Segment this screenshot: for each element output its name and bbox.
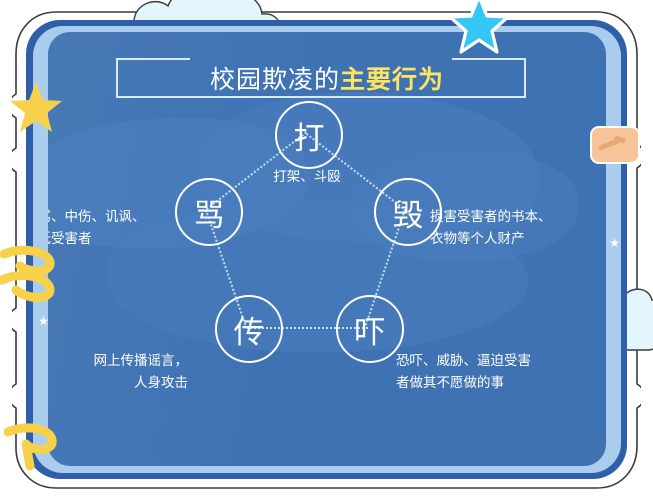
caption-scold: 辱骂、中伤、讥讽、 贬低受害者 bbox=[48, 206, 184, 250]
node-scold[interactable]: 骂 bbox=[175, 178, 243, 246]
node-threaten-label: 吓 bbox=[355, 307, 386, 352]
node-scold-label: 骂 bbox=[194, 190, 225, 235]
title-block: 校园欺凌的主要行为 bbox=[64, 44, 590, 108]
title-prefix: 校园欺凌的 bbox=[210, 65, 340, 94]
caption-destroy: 损害受害者的书本、 衣物等个人财产 bbox=[430, 206, 606, 250]
title-frame-top-right bbox=[452, 58, 526, 60]
star-cyan-icon bbox=[448, 0, 510, 54]
main-blue-panel: 校园欺凌的主要行为 打 骂 毁 传 吓 打架、斗殴 辱骂、中伤、讥讽、 贬低受害… bbox=[48, 32, 606, 466]
node-hit[interactable]: 打 bbox=[275, 101, 343, 169]
ribbon-left-lower bbox=[4, 418, 64, 474]
caption-threaten: 恐吓、威胁、逼迫受害 者做其不愿做的事 bbox=[396, 350, 596, 394]
star-yellow-icon bbox=[8, 80, 64, 134]
title-highlight: 主要行为 bbox=[340, 65, 444, 94]
caption-hit: 打架、斗殴 bbox=[237, 166, 377, 188]
poster-canvas: ★ ★ ★ 校园欺凌的主要行为 bbox=[0, 0, 653, 500]
title-frame-top-left bbox=[116, 58, 190, 60]
tag-peach-icon bbox=[590, 126, 640, 164]
node-destroy-label: 毁 bbox=[393, 190, 424, 235]
node-spread-label: 传 bbox=[234, 307, 265, 352]
node-threaten[interactable]: 吓 bbox=[336, 295, 404, 363]
mini-star-icon: ★ bbox=[609, 238, 620, 249]
caption-spread: 网上传播谣言， 人身攻击 bbox=[48, 350, 188, 394]
node-spread[interactable]: 传 bbox=[215, 295, 283, 363]
node-hit-label: 打 bbox=[294, 113, 325, 158]
page-title: 校园欺凌的主要行为 bbox=[64, 63, 590, 97]
ribbon-left-upper bbox=[0, 244, 60, 308]
